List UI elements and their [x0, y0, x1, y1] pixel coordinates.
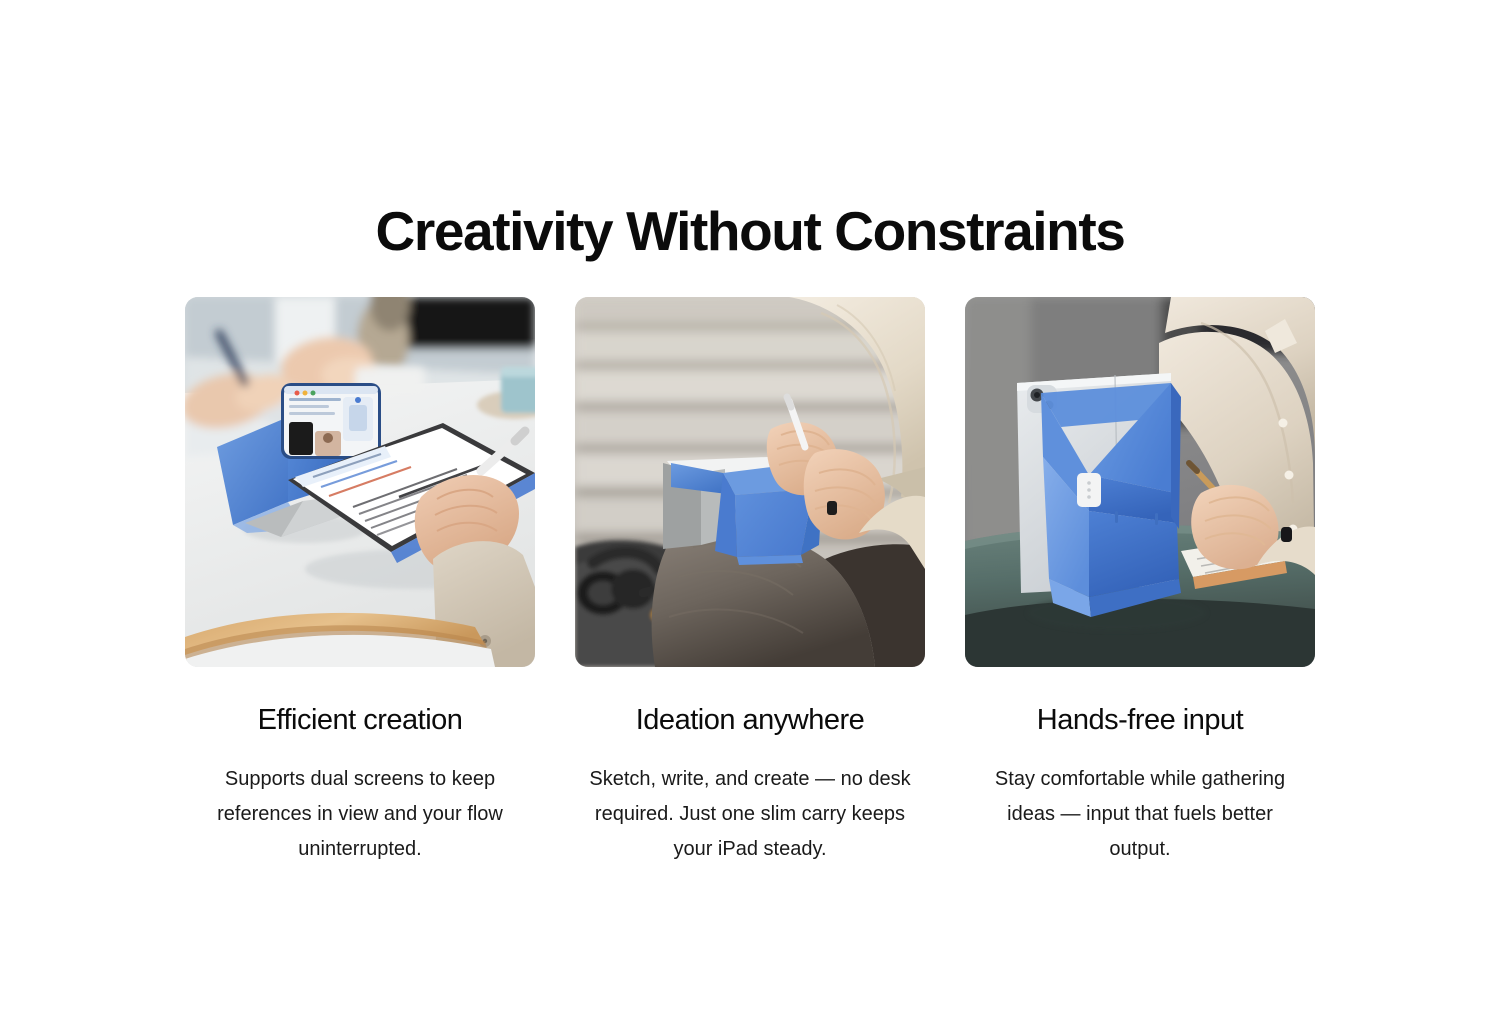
feature-description: Supports dual screens to keep references… [195, 762, 525, 867]
feature-title: Hands-free input [1037, 702, 1243, 738]
ideation-anywhere-photo [575, 297, 925, 667]
feature-card-grid: Efficient creation Supports dual screens… [185, 297, 1315, 867]
feature-title: Ideation anywhere [636, 702, 865, 738]
hands-free-input-photo [965, 297, 1315, 667]
feature-card-ideation-anywhere: Ideation anywhere Sketch, write, and cre… [575, 297, 925, 867]
feature-card-hands-free-input: Hands-free input Stay comfortable while … [965, 297, 1315, 867]
feature-description: Stay comfortable while gathering ideas —… [975, 762, 1305, 867]
creativity-feature-section: Creativity Without Constraints [0, 0, 1500, 1018]
feature-card-efficient-creation: Efficient creation Supports dual screens… [185, 297, 535, 867]
efficient-creation-photo [185, 297, 535, 667]
feature-title: Efficient creation [258, 702, 463, 738]
feature-description: Sketch, write, and create — no desk requ… [585, 762, 915, 867]
page-title: Creativity Without Constraints [0, 197, 1500, 265]
